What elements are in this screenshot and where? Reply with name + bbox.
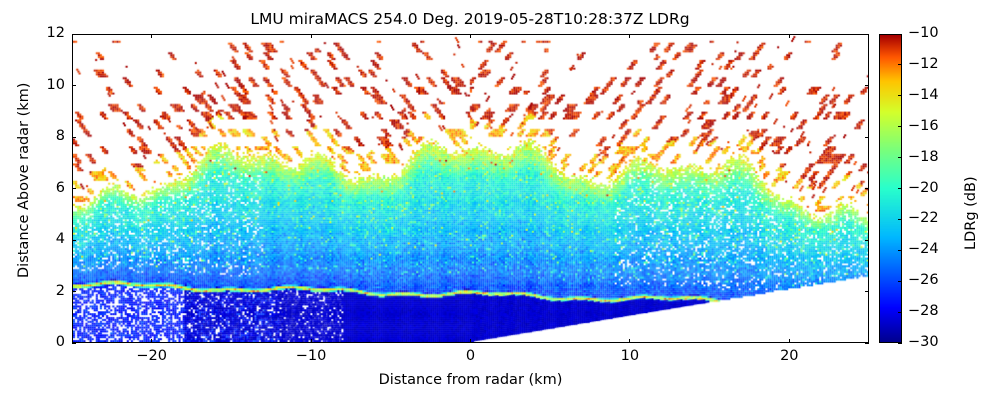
y-tick xyxy=(865,188,869,189)
x-tick xyxy=(470,339,471,343)
y-tick xyxy=(72,240,76,241)
y-tick xyxy=(72,343,76,344)
x-tick-label: −20 xyxy=(122,348,182,364)
x-tick xyxy=(470,34,471,38)
y-axis-label: Distance Above radar (km) xyxy=(16,83,32,278)
colorbar-tick-label: −24 xyxy=(908,241,939,257)
x-tick-label: 10 xyxy=(600,348,660,364)
y-tick xyxy=(865,240,869,241)
colorbar-tick-label: −18 xyxy=(908,149,939,165)
colorbar-tick-label: −26 xyxy=(908,272,939,288)
y-tick-label: 2 xyxy=(25,283,65,299)
colorbar-tick xyxy=(898,95,902,96)
x-tick xyxy=(151,34,152,38)
colorbar-tick xyxy=(898,64,902,65)
x-tick xyxy=(311,339,312,343)
x-tick-label: 20 xyxy=(759,348,819,364)
y-tick xyxy=(72,137,76,138)
x-tick xyxy=(151,339,152,343)
colorbar-tick xyxy=(898,312,902,313)
y-tick xyxy=(865,343,869,344)
colorbar-tick-label: −16 xyxy=(908,118,939,134)
x-tick xyxy=(311,34,312,38)
colorbar-tick xyxy=(898,250,902,251)
colorbar-tick xyxy=(898,126,902,127)
colorbar-tick xyxy=(898,188,902,189)
y-tick-label: 0 xyxy=(25,334,65,350)
radar-heatmap-canvas xyxy=(73,35,868,342)
colorbar-label: LDRg (dB) xyxy=(963,176,979,250)
colorbar-tick-label: −30 xyxy=(908,334,939,350)
y-tick xyxy=(865,85,869,86)
colorbar-tick xyxy=(898,219,902,220)
radar-figure: LMU miraMACS 254.0 Deg. 2019-05-28T10:28… xyxy=(0,0,1000,400)
colorbar-tick-label: −10 xyxy=(908,25,939,41)
y-tick-label: 12 xyxy=(25,25,65,41)
x-tick xyxy=(789,339,790,343)
colorbar-tick xyxy=(898,343,902,344)
colorbar-tick-label: −14 xyxy=(908,87,939,103)
colorbar-tick xyxy=(898,157,902,158)
y-tick xyxy=(865,137,869,138)
colorbar-tick xyxy=(898,34,902,35)
x-tick xyxy=(629,339,630,343)
y-tick xyxy=(865,291,869,292)
x-tick-label: −10 xyxy=(281,348,341,364)
colorbar-tick-label: −20 xyxy=(908,180,939,196)
x-tick xyxy=(789,34,790,38)
x-axis-label: Distance from radar (km) xyxy=(72,372,869,388)
plot-area xyxy=(72,34,869,343)
y-tick xyxy=(72,34,76,35)
x-tick-label: 0 xyxy=(441,348,501,364)
y-tick xyxy=(72,188,76,189)
colorbar-tick-label: −22 xyxy=(908,210,939,226)
y-tick xyxy=(865,34,869,35)
colorbar-tick-label: −12 xyxy=(908,56,939,72)
y-tick xyxy=(72,85,76,86)
chart-title: LMU miraMACS 254.0 Deg. 2019-05-28T10:28… xyxy=(0,10,940,28)
colorbar-tick-label: −28 xyxy=(908,303,939,319)
y-tick xyxy=(72,291,76,292)
colorbar-tick xyxy=(898,281,902,282)
x-tick xyxy=(629,34,630,38)
